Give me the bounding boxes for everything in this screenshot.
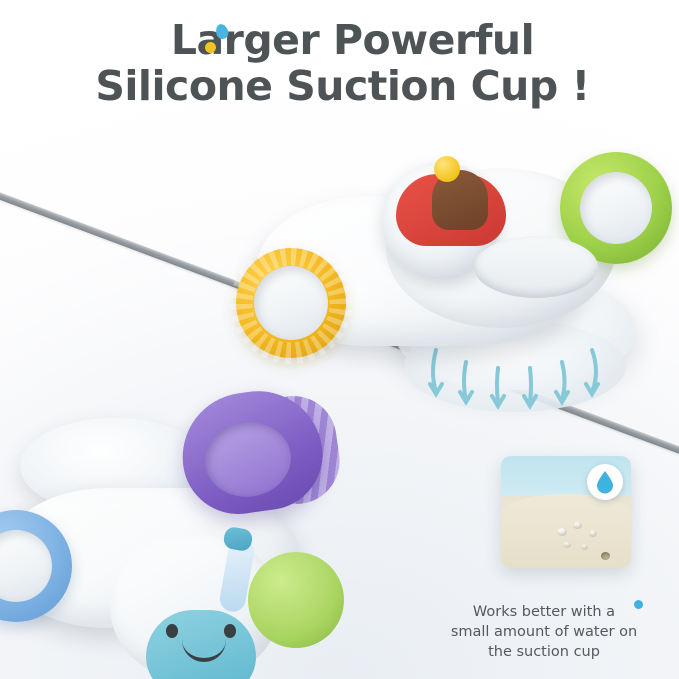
white-suction-spinner-toy-top	[236, 140, 679, 390]
page-title: Larger Powerful Silicone Suction Cup !	[0, 18, 679, 110]
caption-line-3: the suction cup	[416, 642, 672, 662]
headline-line-1: Larger Powerful	[0, 18, 679, 64]
green-accent-part-bottom	[248, 552, 344, 648]
yellow-bead-icon	[434, 156, 460, 182]
product-marketing-image: Larger Powerful Silicone Suction Cup !	[0, 0, 679, 679]
caption-text: Works better with a small amount of wate…	[416, 602, 672, 662]
toy-top-cap	[474, 236, 598, 298]
surface-bump	[589, 530, 597, 537]
caption-line-1: Works better with a	[416, 602, 672, 622]
yellow-dot-accent-icon	[205, 42, 216, 53]
water-drop-icon	[587, 464, 623, 500]
surface-bump	[573, 522, 582, 529]
surface-bump	[581, 544, 588, 550]
caption-line-2: small amount of water on	[416, 622, 672, 642]
water-tip-inset-image	[501, 456, 631, 568]
surface-bump	[557, 528, 567, 536]
water-drop-glyph	[595, 470, 615, 494]
white-suction-spinner-toy-bottom	[0, 392, 410, 679]
surface-bump	[563, 542, 571, 548]
surface-hole	[601, 552, 610, 560]
headline-line-2: Silicone Suction Cup !	[0, 64, 679, 110]
yellow-wheel-ridges	[230, 244, 352, 364]
